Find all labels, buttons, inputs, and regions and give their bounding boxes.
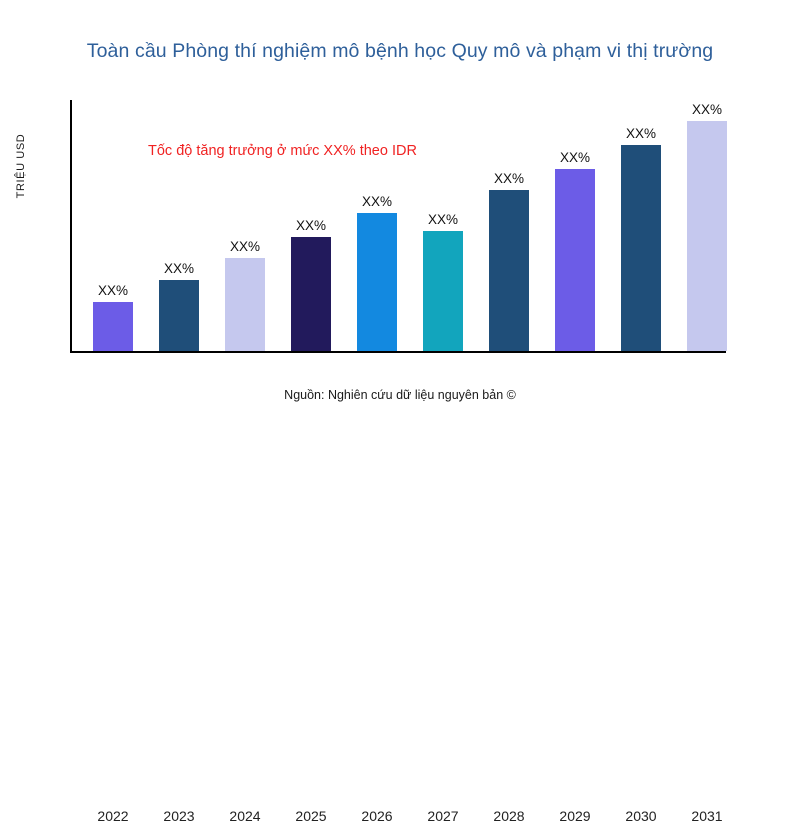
chart-canvas: Toàn cầu Phòng thí nghiệm mô bệnh học Qu…	[0, 0, 800, 450]
x-axis-tick-label: 2023	[144, 808, 214, 824]
bar-value-label: XX%	[210, 239, 280, 254]
x-axis-tick-label: 2028	[474, 808, 544, 824]
x-axis-tick-label: 2022	[78, 808, 148, 824]
bar-value-label: XX%	[672, 102, 742, 117]
x-axis-tick-label: 2030	[606, 808, 676, 824]
plot-area: XX%2022XX%2023XX%2024XX%2025XX%2026XX%20…	[0, 0, 800, 450]
bar-value-label: XX%	[474, 171, 544, 186]
bar-value-label: XX%	[606, 126, 676, 141]
bar[interactable]	[423, 231, 463, 351]
bar-value-label: XX%	[276, 218, 346, 233]
x-axis-tick-label: 2031	[672, 808, 742, 824]
x-axis-tick-label: 2027	[408, 808, 478, 824]
x-axis-tick-label: 2029	[540, 808, 610, 824]
source-note: Nguồn: Nghiên cứu dữ liệu nguyên bản ©	[0, 388, 800, 402]
bar[interactable]	[489, 190, 529, 351]
bar[interactable]	[291, 237, 331, 351]
bar[interactable]	[357, 213, 397, 351]
bar-value-label: XX%	[540, 150, 610, 165]
bar[interactable]	[621, 145, 661, 351]
bar-value-label: XX%	[144, 261, 214, 276]
x-axis-tick-label: 2025	[276, 808, 346, 824]
x-axis-tick-label: 2024	[210, 808, 280, 824]
bar[interactable]	[555, 169, 595, 351]
bar[interactable]	[225, 258, 265, 351]
bar[interactable]	[687, 121, 727, 351]
bar-value-label: XX%	[342, 194, 412, 209]
x-axis-tick-label: 2026	[342, 808, 412, 824]
bar[interactable]	[93, 302, 133, 351]
bar-value-label: XX%	[78, 283, 148, 298]
bar-value-label: XX%	[408, 212, 478, 227]
bar[interactable]	[159, 280, 199, 351]
